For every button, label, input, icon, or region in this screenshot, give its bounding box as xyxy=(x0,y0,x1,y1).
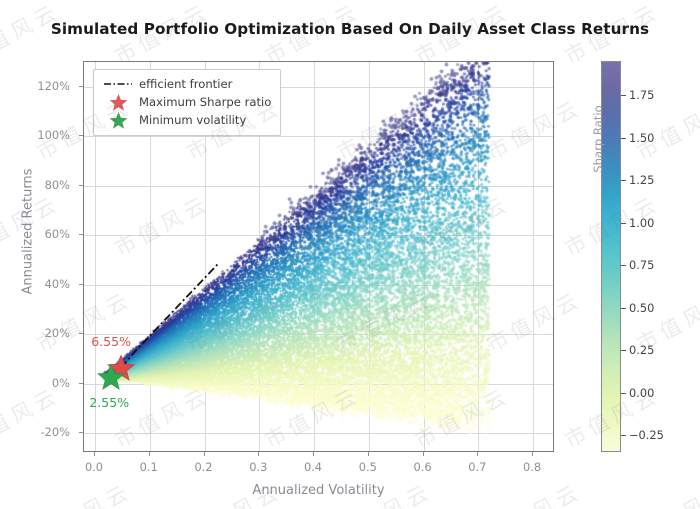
y-tick-label-6: 100% xyxy=(0,128,70,142)
colorbar-tickmark-3 xyxy=(621,223,626,224)
colorbar-tickmark-7 xyxy=(621,393,626,394)
legend: efficient frontier Maximum Sharpe ratio … xyxy=(93,69,281,136)
colorbar-tickmark-5 xyxy=(621,308,626,309)
watermark-text: 市值风云 xyxy=(0,379,65,454)
y-tickmark-1 xyxy=(79,383,83,384)
x-axis-label: Annualized Volatility xyxy=(83,483,554,498)
colorbar-tickmark-4 xyxy=(621,265,626,266)
frontier-path xyxy=(121,264,218,368)
legend-item-efficient-frontier[interactable]: efficient frontier xyxy=(101,75,271,93)
legend-label-min-volatility: Minimum volatility xyxy=(139,113,246,127)
max-sharpe-value-label: 6.55% xyxy=(91,334,131,349)
x-tickmark-8 xyxy=(532,452,533,456)
colorbar-tickmark-1 xyxy=(621,138,626,139)
colorbar-tick-label-4: 0.75 xyxy=(629,258,654,272)
x-tickmark-3 xyxy=(258,452,259,456)
x-tickmark-7 xyxy=(477,452,478,456)
colorbar-tick-label-6: 0.25 xyxy=(629,343,654,357)
colorbar-tick-label-8: −0.25 xyxy=(629,428,664,442)
y-tick-label-1: 0% xyxy=(0,376,70,390)
page-title: Simulated Portfolio Optimization Based O… xyxy=(0,20,700,38)
x-tick-label-8: 0.8 xyxy=(502,460,562,474)
colorbar-tickmark-6 xyxy=(621,350,626,351)
x-tickmark-6 xyxy=(423,452,424,456)
y-tickmark-7 xyxy=(79,86,83,87)
y-tickmark-0 xyxy=(79,432,83,433)
watermark-text: 市值风云 xyxy=(631,91,700,166)
y-tick-label-0: -20% xyxy=(0,425,70,439)
colorbar-tick-label-1: 1.50 xyxy=(629,131,654,145)
colorbar-tick-label-3: 1.00 xyxy=(629,216,654,230)
colorbar-tick-label-2: 1.25 xyxy=(629,173,654,187)
x-tick-label-4: 0.4 xyxy=(283,460,343,474)
colorbar-title: Sharp Ratio xyxy=(591,69,605,209)
legend-label-efficient-frontier: efficient frontier xyxy=(139,77,232,91)
min-volatility-value-label: 2.55% xyxy=(89,395,129,410)
y-tickmark-6 xyxy=(79,135,83,136)
x-tick-label-2: 0.2 xyxy=(174,460,234,474)
y-tick-label-2: 20% xyxy=(0,326,70,340)
x-tickmark-4 xyxy=(313,452,314,456)
colorbar-tickmark-0 xyxy=(621,95,626,96)
colorbar-tick-label-5: 0.50 xyxy=(629,301,654,315)
x-tickmark-2 xyxy=(204,452,205,456)
y-axis-label: Annualized Returns xyxy=(21,142,36,322)
y-tick-label-7: 120% xyxy=(0,79,70,93)
legend-label-max-sharpe: Maximum Sharpe ratio xyxy=(139,95,271,109)
y-tickmark-3 xyxy=(79,284,83,285)
x-tickmark-1 xyxy=(149,452,150,456)
red-star-icon xyxy=(101,93,135,112)
x-tick-label-5: 0.5 xyxy=(338,460,398,474)
x-tick-label-1: 0.1 xyxy=(119,460,179,474)
y-tickmark-2 xyxy=(79,333,83,334)
plot-area: 6.55% 2.55% efficient frontier Maximum S… xyxy=(83,61,554,452)
x-tick-label-6: 0.6 xyxy=(393,460,453,474)
legend-item-max-sharpe[interactable]: Maximum Sharpe ratio xyxy=(101,93,271,111)
x-tick-label-0: 0.0 xyxy=(64,460,124,474)
colorbar-tick-label-7: 0.00 xyxy=(629,386,654,400)
y-tickmark-5 xyxy=(79,185,83,186)
colorbar-tickmark-2 xyxy=(621,180,626,181)
dashdot-line-icon xyxy=(101,79,135,89)
x-tick-label-3: 0.3 xyxy=(228,460,288,474)
x-tickmark-0 xyxy=(94,452,95,456)
legend-item-min-volatility[interactable]: Minimum volatility xyxy=(101,111,271,129)
green-star-icon xyxy=(101,111,135,130)
y-tickmark-4 xyxy=(79,234,83,235)
x-tick-label-7: 0.7 xyxy=(447,460,507,474)
watermark-text: 市值风云 xyxy=(631,475,700,509)
x-tickmark-5 xyxy=(368,452,369,456)
colorbar-tickmark-8 xyxy=(621,435,626,436)
colorbar-tick-label-0: 1.75 xyxy=(629,88,654,102)
